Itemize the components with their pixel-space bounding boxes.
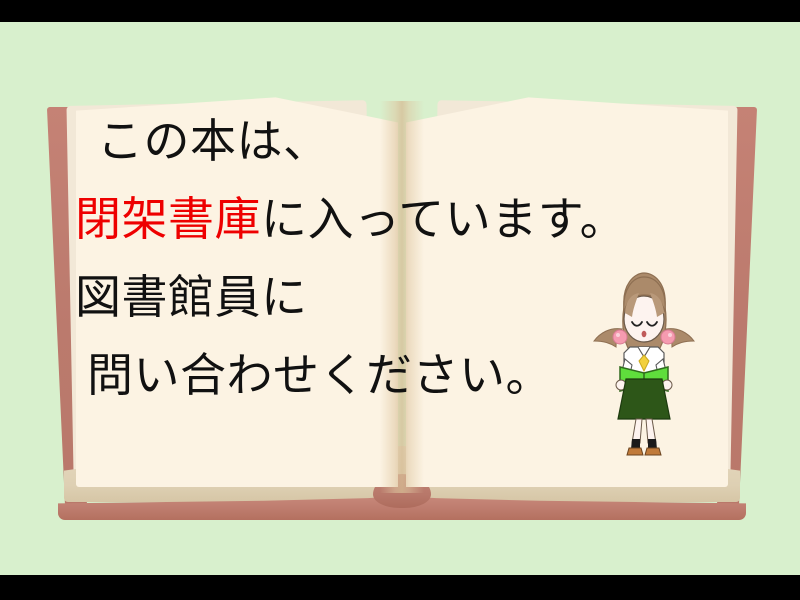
- slide-stage: この本は、 閉架書庫に入っています。 図書館員に 問い合わせください。: [0, 22, 800, 575]
- notice-line-1: この本は、: [75, 102, 695, 180]
- screenshot-root: この本は、 閉架書庫に入っています。 図書館員に 問い合わせください。: [0, 0, 800, 600]
- closed-stacks-highlight: 閉架書庫: [75, 192, 261, 246]
- librarian-girl-illustration: [592, 267, 696, 457]
- notice-line-2: 閉架書庫に入っています。: [75, 180, 695, 258]
- letterbox-bar-top: [0, 0, 800, 22]
- notice-line-4-text: 問い合わせください。: [87, 348, 552, 402]
- notice-line-1-text: この本は、: [97, 114, 330, 168]
- notice-line-2-rest: に入っています。: [261, 192, 626, 246]
- notice-line-3-text: 図書館員に: [75, 270, 308, 324]
- letterbox-bar-bottom: [0, 575, 800, 600]
